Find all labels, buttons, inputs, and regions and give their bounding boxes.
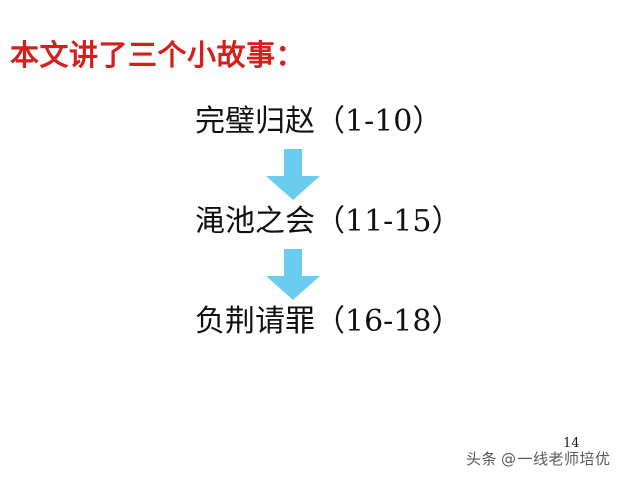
- story-flow-diagram: 完璧归赵（1-10） 渑池之会（11-15） 负荆请罪（16-18）: [0, 0, 640, 480]
- watermark-account: 一线老师培优: [518, 450, 611, 468]
- slide-canvas: 本文讲了三个小故事： 完璧归赵（1-10） 渑池之会（11-15） 负荆请罪（1…: [0, 0, 640, 480]
- watermark: 头条@一线老师培优: [466, 448, 611, 469]
- down-arrow-icon: [264, 149, 322, 201]
- watermark-brand: 头条: [466, 450, 497, 468]
- page-number: 14: [563, 436, 580, 451]
- watermark-at-symbol: @: [501, 450, 517, 468]
- flow-item-story-2: 渑池之会（11-15）: [195, 204, 461, 240]
- down-arrow-icon: [264, 249, 322, 301]
- flow-item-story-1: 完璧归赵（1-10）: [195, 104, 442, 140]
- flow-item-story-3: 负荆请罪（16-18）: [195, 304, 461, 340]
